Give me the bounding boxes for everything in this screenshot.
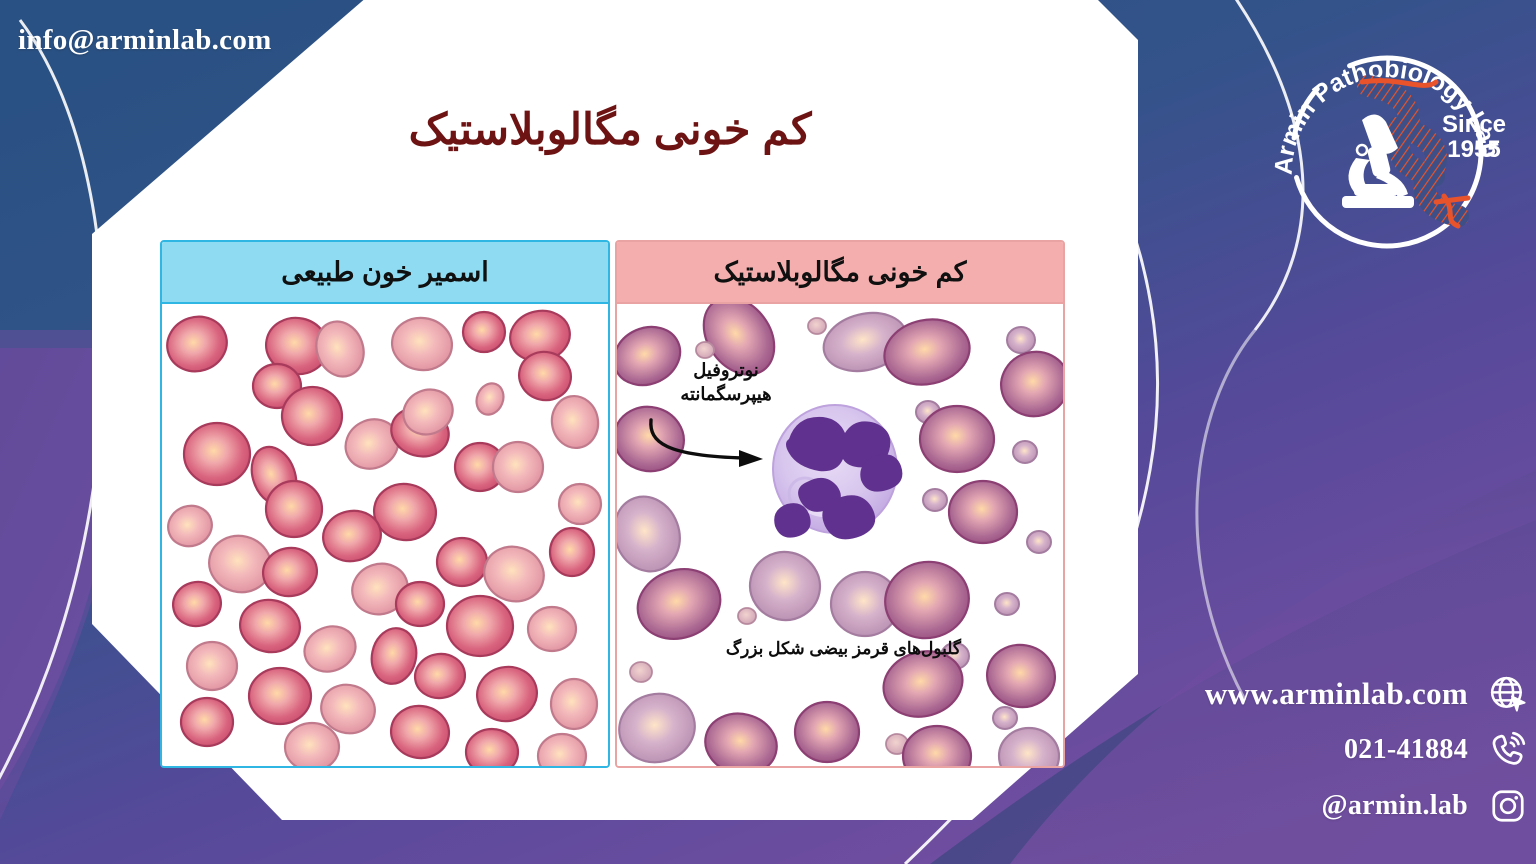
contact-instagram-row[interactable]: @armin.lab [1100,780,1530,832]
contact-phone-label[interactable]: 021-41884 [1344,734,1468,766]
logo-since-label: Since [1442,111,1506,138]
hypersegmented-neutrophil-cell [773,405,902,539]
contact-instagram-label[interactable]: @armin.lab [1322,790,1469,822]
panel-normal-smear-title: اسمیر خون طبیعی [162,242,608,304]
contact-phone-row[interactable]: 021-41884 [1100,724,1530,776]
panel-megaloblastic-smear: کم خونی مگالوبلاستیک [615,240,1065,768]
instagram-icon[interactable] [1486,784,1530,828]
contact-website-row[interactable]: www.arminlab.com [1100,668,1530,720]
normal-blood-smear-illustration [162,304,608,766]
panel-megaloblastic-smear-title: کم خونی مگالوبلاستیک [617,242,1063,304]
company-logo[interactable]: Armin Pathobiology Lab Since 1955 [1258,20,1516,278]
annotation-hypersegmented-neutrophil: نوتروفیل هیپرسگمانته [647,358,805,406]
phone-call-icon[interactable] [1486,728,1530,772]
logo-svg: Armin Pathobiology Lab Since 1955 [1258,20,1516,278]
annotation-arrow-icon [641,414,781,472]
contact-block: www.arminlab.com 021-41884 @armin.lab [1100,668,1530,838]
globe-cursor-icon[interactable] [1486,672,1530,716]
panel-megaloblastic-smear-body: نوتروفیل هیپرسگمانته گلبول‌های قرمز بیضی… [617,304,1063,766]
email-address[interactable]: info@arminlab.com [18,24,272,57]
panel-normal-smear: اسمیر خون طبیعی [160,240,610,768]
annotation-neutrophil-line1: نوتروفیل [647,358,805,382]
contact-website-label[interactable]: www.arminlab.com [1205,676,1468,712]
panel-normal-smear-body [162,304,608,766]
annotation-large-oval-rbc: گلبول‌های قرمز بیضی شکل بزرگ [641,638,961,661]
annotation-neutrophil-line2: هیپرسگمانته [647,382,805,406]
page-title: کم خونی مگالوبلاستیک [300,104,920,158]
logo-since-year: 1955 [1447,136,1500,163]
